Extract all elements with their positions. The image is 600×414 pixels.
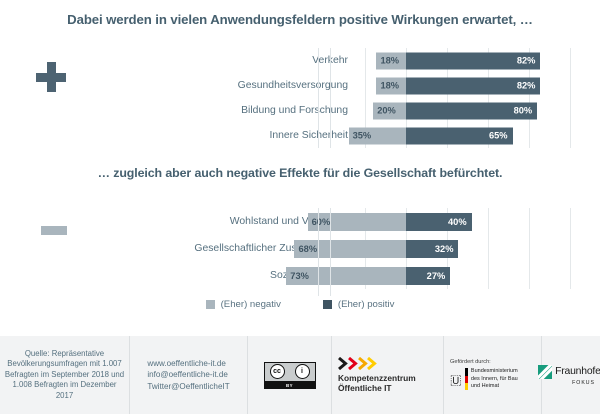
footer-funder-cell: Gefördert durch: 🇺️ Bundesministerium de… [444, 336, 542, 414]
bar-segment-positive[interactable]: 80% [406, 102, 537, 119]
chart-row: Wohlstand und Verteilung60%40% [0, 208, 600, 235]
gridline [570, 48, 571, 73]
chart-plot-area: 18%82% [330, 73, 600, 98]
fraunhofer-name-label: Fraunhofer [555, 366, 600, 377]
stacked-bar[interactable]: 60%40% [308, 213, 472, 231]
bar-segment-positive[interactable]: 32% [406, 240, 458, 258]
footer-website-link[interactable]: www.oeffentliche-it.de [147, 358, 229, 369]
gridline [488, 208, 489, 235]
chart-legend: (Eher) negativ (Eher) positiv [0, 299, 600, 310]
cc-byline-label: BY [264, 382, 316, 389]
bar-segment-positive[interactable]: 65% [406, 127, 513, 144]
bar-segment-positive[interactable]: 40% [406, 213, 472, 231]
cc-logo-icon: cc [270, 364, 285, 379]
chart-plot-area: 20%80% [330, 98, 600, 123]
bar-segment-negative[interactable]: 20% [373, 102, 406, 119]
chart-plot-area: 68%32% [330, 235, 600, 262]
gridline [570, 123, 571, 148]
stacked-bar[interactable]: 68%32% [294, 240, 458, 258]
stacked-bar[interactable]: 20%80% [373, 102, 537, 119]
legend-label-negative: (Eher) negativ [221, 299, 281, 310]
gridline [570, 73, 571, 98]
legend-swatch-positive-icon [323, 300, 332, 309]
footer-twitter-link[interactable]: Twitter@OeffentlicheIT [147, 381, 229, 392]
chart-negative-fears: Wohlstand und Verteilung60%40%Gesellscha… [0, 208, 600, 296]
funder-line1: Bundesministerium [471, 368, 518, 375]
footer-kompetenzzentrum-cell: Kompetenzzentrum Öffentliche IT [332, 336, 444, 414]
kompetenzzentrum-line1: Kompetenzzentrum [338, 373, 416, 384]
gridline [529, 262, 530, 289]
bundesadler-icon: 🇺️ [450, 373, 462, 386]
legend-swatch-negative-icon [206, 300, 215, 309]
gridline [529, 123, 530, 148]
chart-row: Gesellschaftlicher Zusammenhalt68%32% [0, 235, 600, 262]
gridline [365, 73, 366, 98]
legend-item-positive[interactable]: (Eher) positiv [323, 299, 395, 310]
stacked-bar[interactable]: 18%82% [376, 52, 540, 69]
gridline [570, 235, 571, 262]
bar-segment-positive[interactable]: 27% [406, 267, 450, 285]
gridline [488, 235, 489, 262]
footer-email-link[interactable]: info@oeffentliche-it.de [147, 369, 229, 380]
fraunhofer-logo-icon [538, 365, 552, 379]
bar-segment-negative[interactable]: 18% [376, 77, 406, 94]
fraunhofer-institute-label: FOKUS [572, 380, 596, 386]
stacked-bar[interactable]: 18%82% [376, 77, 540, 94]
bar-segment-negative[interactable]: 35% [349, 127, 406, 144]
gridline [365, 98, 366, 123]
page-title-negative: … zugleich aber auch negative Effekte fü… [0, 166, 600, 180]
gridline [570, 208, 571, 235]
gridline [529, 235, 530, 262]
chart-row: Bildung und Forschung20%80% [0, 98, 600, 123]
legend-item-negative[interactable]: (Eher) negativ [206, 299, 281, 310]
chart-row: Soziale Kontakte73%27% [0, 262, 600, 289]
axis-separator [318, 208, 319, 296]
bar-segment-positive[interactable]: 82% [406, 52, 540, 69]
creative-commons-badge[interactable]: cc i BY [264, 362, 316, 382]
kompetenzzentrum-line2: Öffentliche IT [338, 383, 416, 394]
page-title-positive: Dabei werden in vielen Anwendungsfeldern… [0, 12, 600, 27]
chart-row: Innere Sicherheit35%65% [0, 123, 600, 148]
bar-segment-negative[interactable]: 60% [308, 213, 406, 231]
gridline [365, 48, 366, 73]
chart-plot-area: 60%40% [330, 208, 600, 235]
footer-source-text: Quelle: Repräsentative Bevölkerungsumfra… [4, 349, 125, 402]
chart-plot-area: 73%27% [330, 262, 600, 289]
gridline [488, 262, 489, 289]
footer-fraunhofer-cell: Fraunhofer FOKUS [542, 336, 600, 414]
footer-source-cell: Quelle: Repräsentative Bevölkerungsumfra… [0, 336, 130, 414]
funder-line3: und Heimat [471, 383, 518, 390]
cc-attribution-icon: i [295, 364, 310, 379]
chart-positive-expectations: Verkehr18%82%Gesundheitsversorgung18%82%… [0, 48, 600, 148]
gridline [529, 208, 530, 235]
axis-separator [330, 48, 331, 148]
gridline [570, 98, 571, 123]
chart-row: Gesundheitsversorgung18%82% [0, 73, 600, 98]
gridline [570, 262, 571, 289]
bar-segment-positive[interactable]: 82% [406, 77, 540, 94]
bar-segment-negative[interactable]: 18% [376, 52, 406, 69]
footer-license-cell: cc i BY [248, 336, 332, 414]
bar-segment-negative[interactable]: 73% [286, 267, 406, 285]
chart-row: Verkehr18%82% [0, 48, 600, 73]
chart-plot-area: 35%65% [330, 123, 600, 148]
funder-line2: des Innern, für Bau [471, 376, 518, 383]
german-flag-icon [465, 368, 468, 390]
axis-separator [318, 48, 319, 148]
footer-bar: Quelle: Repräsentative Bevölkerungsumfra… [0, 336, 600, 414]
footer-contact-cell: www.oeffentliche-it.de info@oeffentliche… [130, 336, 248, 414]
legend-label-positive: (Eher) positiv [338, 299, 395, 310]
bar-segment-negative[interactable]: 68% [294, 240, 406, 258]
axis-separator [330, 208, 331, 296]
chart-plot-area: 18%82% [330, 48, 600, 73]
kompetenzzentrum-chevrons-icon [336, 357, 378, 370]
stacked-bar[interactable]: 35%65% [349, 127, 513, 144]
funder-prefix-label: Gefördert durch: [448, 359, 491, 365]
stacked-bar[interactable]: 73%27% [286, 267, 450, 285]
